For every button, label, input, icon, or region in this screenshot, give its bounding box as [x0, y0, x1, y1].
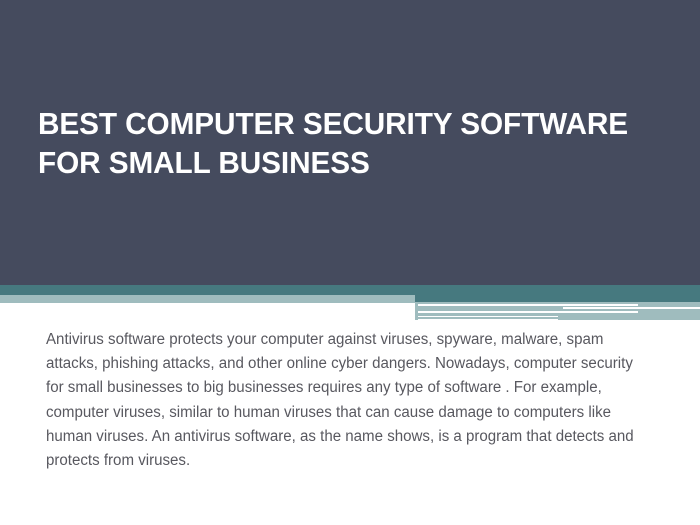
- body-paragraph: Antivirus software protects your compute…: [46, 328, 652, 473]
- divider-stripe-5: [418, 319, 558, 320]
- divider-stripe-2: [563, 307, 700, 309]
- divider-teal-bar-extension: [415, 295, 700, 302]
- title-line-2: FOR SMALL BUSINESS: [38, 143, 652, 182]
- decorative-divider: [0, 285, 700, 325]
- title-line-1: BEST COMPUTER SECURITY SOFTWARE: [38, 104, 652, 143]
- divider-stripe-4: [418, 316, 558, 317]
- divider-teal-bar: [0, 285, 700, 295]
- divider-light-teal-bar-left: [0, 295, 415, 303]
- body-content: Antivirus software protects your compute…: [46, 328, 664, 473]
- page-title: BEST COMPUTER SECURITY SOFTWARE FOR SMAL…: [38, 104, 678, 182]
- divider-stripe-1: [418, 304, 638, 306]
- divider-stripe-3: [418, 311, 638, 313]
- slide-canvas: BEST COMPUTER SECURITY SOFTWARE FOR SMAL…: [0, 0, 700, 525]
